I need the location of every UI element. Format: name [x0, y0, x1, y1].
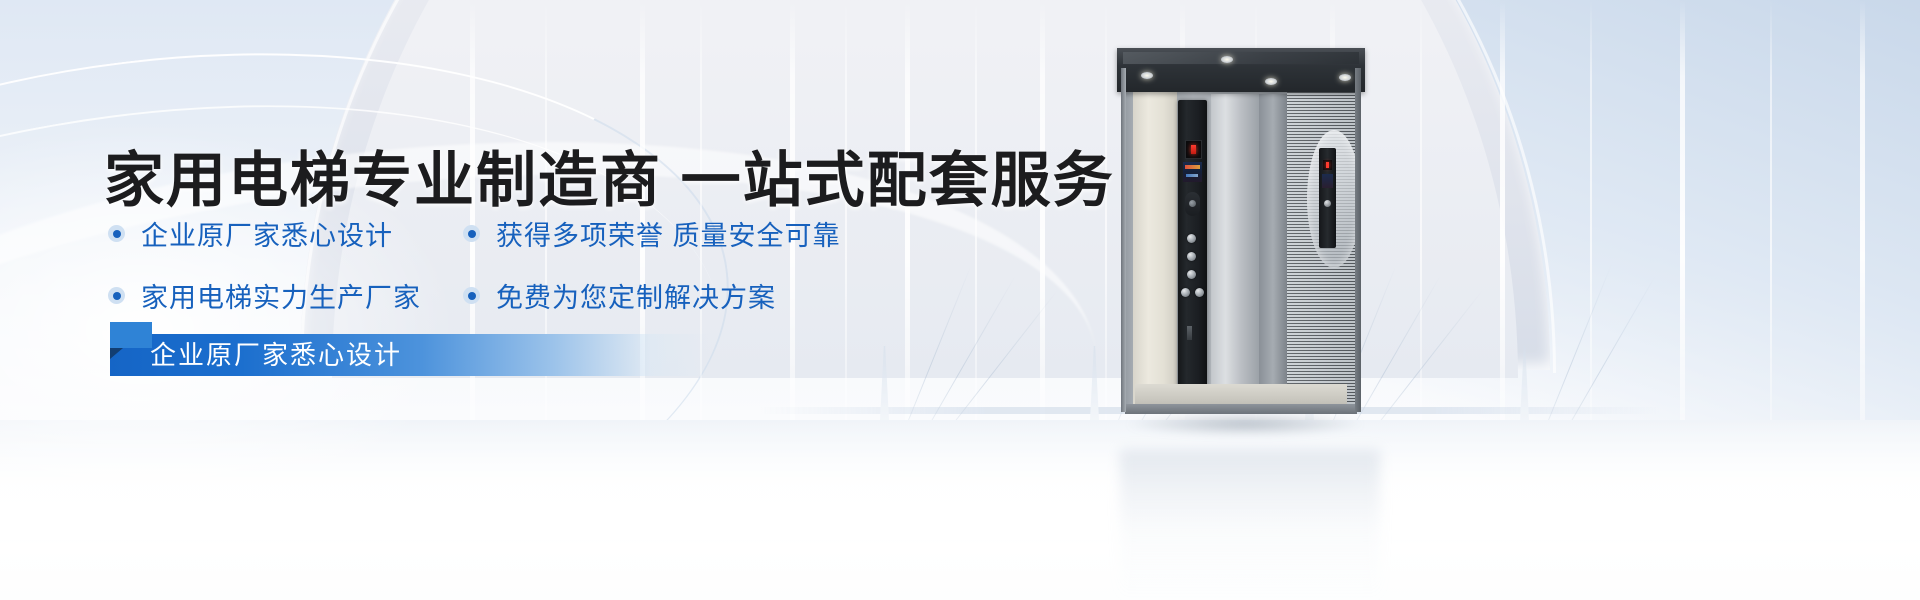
- ribbon-tab-icon: [110, 322, 152, 348]
- list-item: 企业原厂家悉心设计: [108, 214, 463, 253]
- list-item: 免费为您定制解决方案: [463, 276, 776, 315]
- feature-label: 获得多项荣誉 质量安全可靠: [496, 214, 841, 253]
- elevator-secondary-button: [1324, 200, 1331, 207]
- list-item: 家用电梯实力生产厂家: [108, 276, 463, 315]
- elevator-frame-edge-left: [1121, 68, 1126, 412]
- feature-label: 企业原厂家悉心设计: [141, 214, 393, 253]
- elevator-door-close-button: [1195, 288, 1204, 297]
- elevator-secondary-floor-display: [1323, 160, 1332, 170]
- elevator-floor-button: [1187, 270, 1196, 279]
- elevator-left-wall-panel: [1133, 92, 1177, 410]
- elevator-door-open-button: [1181, 288, 1190, 297]
- elevator-floor-display: [1185, 140, 1202, 159]
- floor-sheen: [0, 420, 1920, 540]
- elevator-ceiling-canopy: [1117, 48, 1365, 92]
- feature-row: 家用电梯实力生产厂家 免费为您定制解决方案: [108, 276, 908, 315]
- elevator-floor-button: [1187, 252, 1196, 261]
- bullet-dot-icon: [463, 287, 480, 304]
- feature-label: 免费为您定制解决方案: [496, 276, 776, 315]
- ribbon-label: 企业原厂家悉心设计: [150, 334, 402, 376]
- page-title: 家用电梯专业制造商 一站式配套服务: [104, 148, 1115, 214]
- elevator-right-wall-panel: [1211, 94, 1259, 410]
- feature-label: 家用电梯实力生产厂家: [141, 276, 421, 315]
- feature-row: 企业原厂家悉心设计 获得多项荣誉 质量安全可靠: [108, 214, 908, 253]
- list-item: 获得多项荣誉 质量安全可靠: [463, 214, 841, 253]
- elevator-frame-edge-right: [1355, 68, 1361, 412]
- elevator-speaker-grille-icon: [1185, 192, 1200, 216]
- floor-reflection: [1120, 450, 1380, 600]
- reflective-floor: [0, 420, 1920, 600]
- bullet-dot-icon: [108, 287, 125, 304]
- bullet-dot-icon: [463, 225, 480, 242]
- elevator-floor-button: [1187, 234, 1196, 243]
- ribbon-banner: 企业原厂家悉心设计: [110, 334, 710, 376]
- hero-banner: 家用电梯专业制造商 一站式配套服务 企业原厂家悉心设计 获得多项荣誉 质量安全可…: [0, 0, 1920, 600]
- elevator-secondary-lcd-screen: [1322, 174, 1333, 188]
- elevator-brand-plate: [1187, 326, 1192, 340]
- feature-list: 企业原厂家悉心设计 获得多项荣誉 质量安全可靠 家用电梯实力生产厂家 免费为您定…: [108, 214, 908, 315]
- elevator-right-wall-panel-secondary: [1259, 94, 1287, 410]
- elevator-lcd-screen: [1183, 162, 1202, 182]
- elevator-ground-shadow: [1127, 412, 1363, 436]
- bullet-dot-icon: [108, 225, 125, 242]
- home-elevator-image: [1121, 48, 1361, 410]
